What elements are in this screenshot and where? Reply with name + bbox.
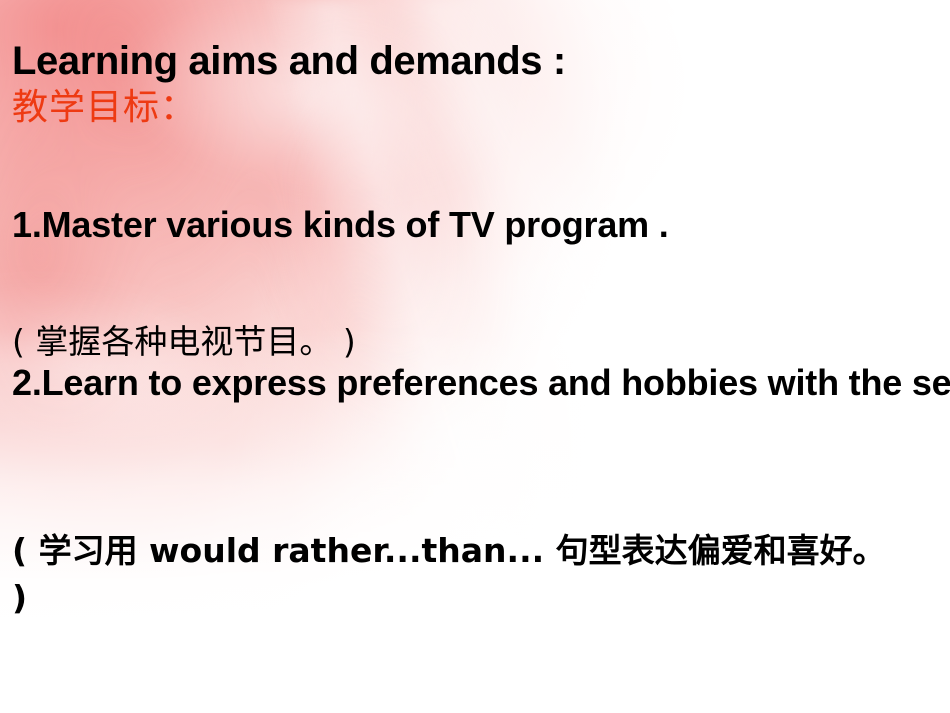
learning-aim-item-1-chinese-note: ( 掌握各种电视节目。 ) bbox=[12, 322, 356, 362]
learning-aim-item-1: 1.Master various kinds of TV program . bbox=[12, 200, 712, 250]
slide-title-english: Learning aims and demands : bbox=[12, 40, 566, 82]
slide-title-chinese: 教学目标： bbox=[12, 88, 197, 128]
learning-aim-item-2-chinese-note: ( 学习用 would rather...than... 句型表达偏爱和喜好。 … bbox=[12, 528, 892, 622]
learning-aim-item-2: 2.Learn to express preferences and hobbi… bbox=[12, 358, 892, 408]
presentation-slide: Learning aims and demands : 教学目标： 1.Mast… bbox=[0, 0, 950, 713]
